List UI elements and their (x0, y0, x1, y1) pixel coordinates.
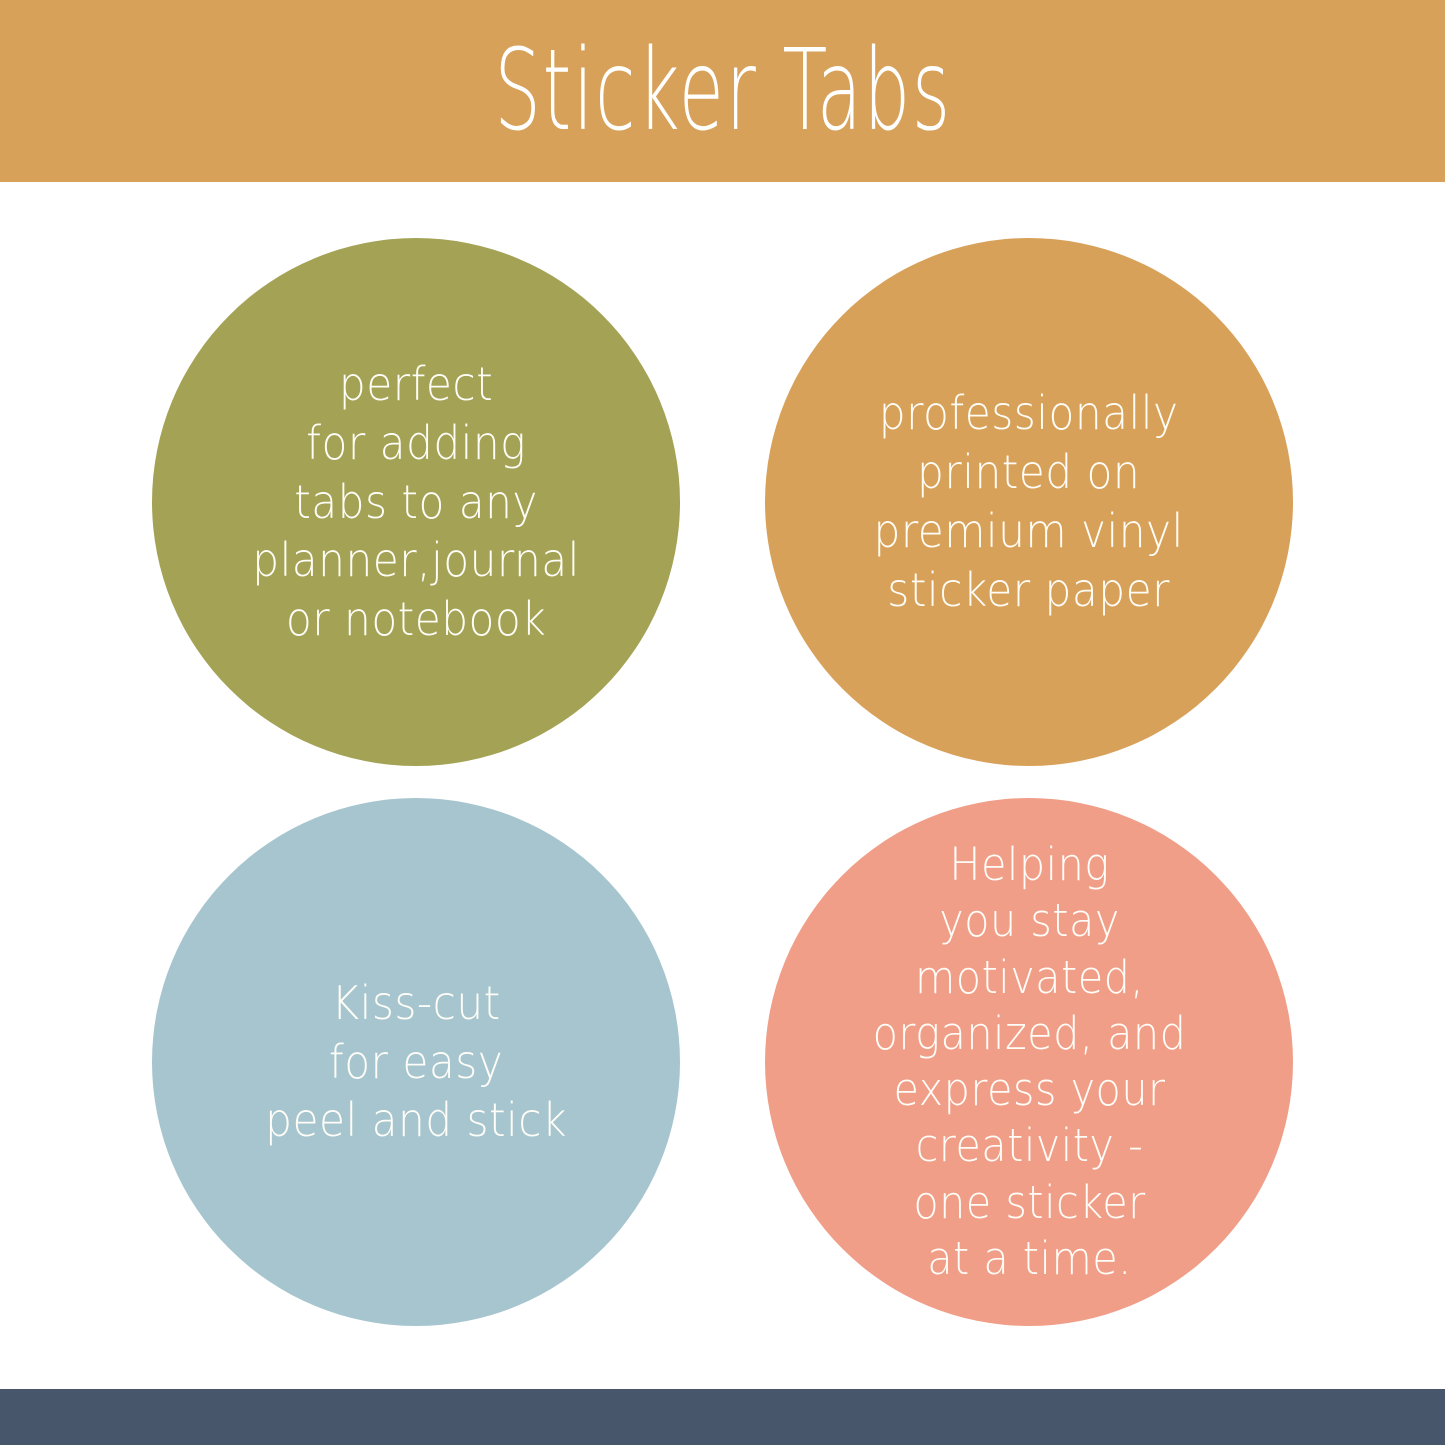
feature-text-helping-you-stay-motivated: Helping you stay motivated, organized, a… (856, 837, 1203, 1287)
feature-text-kiss-cut-peel-and-stick: Kiss-cut for easy peel and stick (249, 974, 584, 1151)
header-banner: Sticker Tabs (0, 0, 1445, 182)
feature-circle-kiss-cut-peel-and-stick: Kiss-cut for easy peel and stick (152, 798, 680, 1326)
page-title: Sticker Tabs (494, 35, 952, 147)
feature-circle-professionally-printed: professionally printed on premium vinyl … (765, 238, 1293, 766)
feature-circle-helping-you-stay-motivated: Helping you stay motivated, organized, a… (765, 798, 1293, 1326)
feature-text-perfect-for-adding-tabs: perfect for adding tabs to any planner,j… (236, 355, 597, 649)
feature-circle-perfect-for-adding-tabs: perfect for adding tabs to any planner,j… (152, 238, 680, 766)
footer-banner (0, 1389, 1445, 1445)
feature-text-professionally-printed: professionally printed on premium vinyl … (857, 384, 1200, 620)
feature-circle-grid: perfect for adding tabs to any planner,j… (0, 182, 1445, 1389)
sticker-tabs-infographic: Sticker Tabs perfect for adding tabs to … (0, 0, 1445, 1445)
